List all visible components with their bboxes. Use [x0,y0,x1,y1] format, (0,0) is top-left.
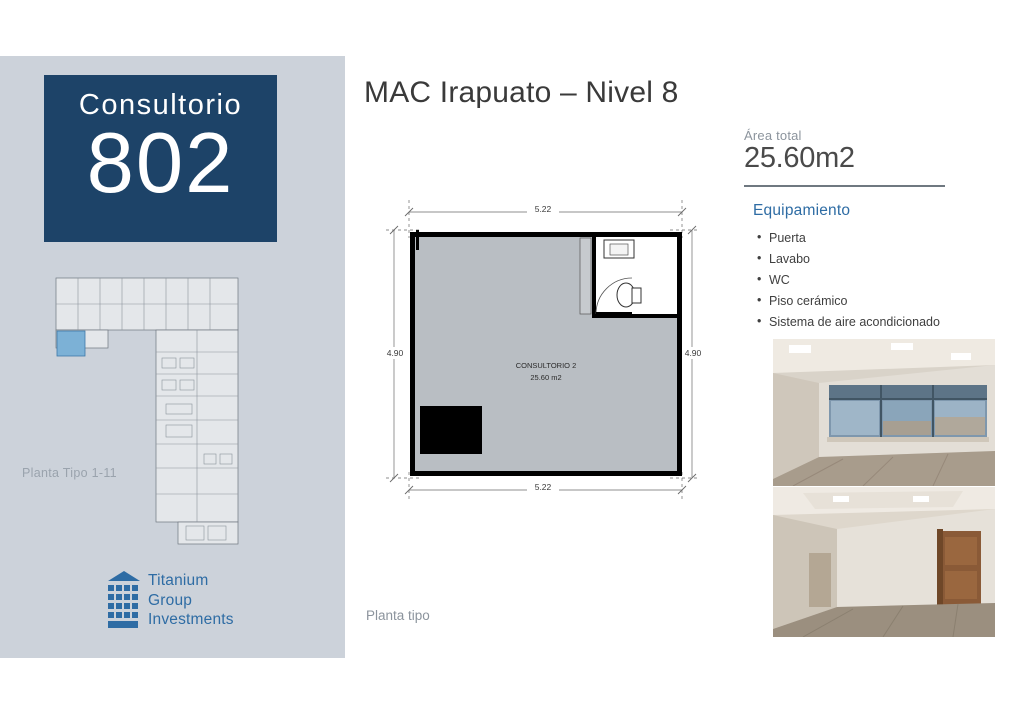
divider [744,185,945,187]
dim-right: 4.90 [685,348,702,358]
list-item: Sistema de aire acondicionado [757,312,940,333]
interior-photo-door [773,487,995,637]
dim-left: 4.90 [387,348,404,358]
floorplan-diagram: 5.22 5.22 4.90 4.90 [364,190,714,520]
service-shaft [420,406,482,454]
building-icon [104,569,144,631]
logo-wordmark: Titanium Group Investments [148,571,234,630]
list-item: Puerta [757,228,940,249]
badge-number: 802 [44,124,277,205]
keyplan-caption: Planta Tipo 1-11 [22,466,117,480]
area-label: Área total [744,128,802,143]
logo-line-1: Titanium [148,571,234,591]
list-item: Lavabo [757,249,940,270]
page-title: MAC Irapuato – Nivel 8 [364,76,679,110]
dim-bottom: 5.22 [535,482,552,492]
company-logo: Titanium Group Investments [104,569,284,649]
consultorio-badge: Consultorio 802 [44,75,277,242]
room-area: 25.60 m2 [530,373,561,382]
logo-line-3: Investments [148,610,234,630]
logo-line-2: Group [148,591,234,611]
interior-photo-window [773,339,995,486]
room-name: CONSULTORIO 2 [516,361,577,370]
highlighted-unit [57,331,85,356]
list-item: WC [757,270,940,291]
left-panel: Consultorio 802 [0,56,345,658]
dim-top: 5.22 [535,204,552,214]
list-item: Piso cerámico [757,291,940,312]
area-value: 25.60m2 [744,142,855,175]
plan-caption: Planta tipo [366,608,430,623]
equipment-title: Equipamiento [753,202,850,220]
equipment-list: Puerta Lavabo WC Piso cerámico Sistema d… [757,228,940,333]
keyplan-diagram [48,270,278,550]
